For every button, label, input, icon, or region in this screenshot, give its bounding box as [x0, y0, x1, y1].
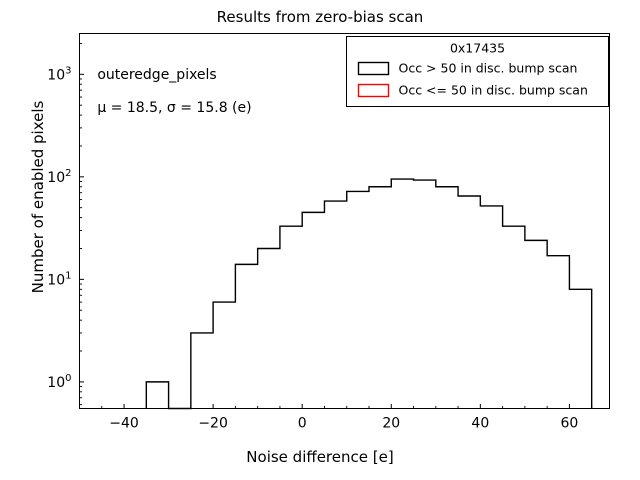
y-axis-ticks: 100101102103: [47, 65, 84, 391]
mu-sigma-label: μ = 18.5, σ = 15.8 (e): [97, 100, 251, 116]
plot-area: −40−200204060 100101102103 outeredge_pix…: [0, 0, 640, 480]
x-tick-label: 0: [298, 416, 307, 432]
y-tick-label: 101: [47, 270, 71, 288]
x-tick-label: −40: [109, 416, 139, 432]
histogram-step-black: [146, 179, 591, 408]
figure-canvas: Results from zero-bias scan Number of en…: [0, 0, 640, 480]
x-tick-label: 40: [471, 416, 489, 432]
legend-box[interactable]: 0x17435Occ > 50 in disc. bump scanOcc <=…: [347, 37, 609, 107]
histogram-series-group: [146, 179, 591, 408]
dataset-label: outeredge_pixels: [97, 67, 216, 83]
y-tick-label: 102: [47, 168, 71, 186]
legend-label-red: Occ <= 50 in disc. bump scan: [399, 83, 588, 98]
chart-title: Results from zero-bias scan: [0, 8, 640, 26]
legend-label-black: Occ > 50 in disc. bump scan: [399, 61, 578, 76]
x-tick-label: 60: [561, 416, 579, 432]
x-axis-label: Noise difference [e]: [0, 448, 640, 466]
legend-title: 0x17435: [450, 41, 505, 56]
y-tick-label: 100: [47, 373, 71, 391]
annotation-group: outeredge_pixelsμ = 18.5, σ = 15.8 (e): [97, 67, 251, 116]
x-tick-label: −20: [198, 416, 228, 432]
y-tick-label: 103: [47, 65, 71, 83]
x-tick-label: 20: [382, 416, 400, 432]
y-axis-label: Number of enabled pixels: [29, 67, 47, 327]
